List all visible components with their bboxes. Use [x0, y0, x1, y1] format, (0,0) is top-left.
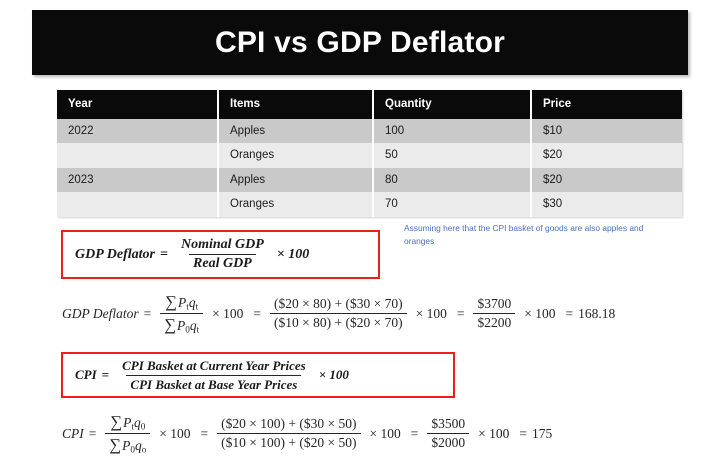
gdp-calc-times-2: × 100 — [416, 306, 447, 322]
gdp-deflator-calculation: GDP Deflator = ∑Ptqt ∑P0qt × 100 = ($20 … — [62, 292, 615, 335]
cell-quantity: 50 — [373, 143, 531, 167]
sigma-icon: ∑ — [164, 315, 176, 334]
gdp-num-q: q — [189, 295, 196, 310]
gdp-calc-real-total: $2200 — [473, 313, 515, 331]
cpi-calc-totals-fraction: $3500 $2000 — [427, 416, 469, 451]
page-title: CPI vs GDP Deflator — [215, 26, 505, 60]
column-header-items: Items — [218, 90, 373, 119]
table-row: 2022 Apples 100 $10 — [57, 119, 682, 143]
gdp-calc-sigma-denominator: ∑P0qt — [160, 313, 203, 335]
cell-year: 2023 — [57, 168, 218, 192]
cell-quantity: 70 — [373, 192, 531, 216]
cpi-num-q-sub: 0 — [141, 422, 146, 432]
data-table: Year Items Quantity Price 2022 Apples 10… — [57, 90, 682, 217]
gdp-calc-label: GDP Deflator — [62, 306, 139, 322]
cell-item: Apples — [218, 119, 373, 143]
cpi-formula-fraction: CPI Basket at Current Year Prices CPI Ba… — [118, 358, 310, 393]
cpi-calc-sigma-numerator: ∑Ptq0 — [106, 412, 149, 433]
cell-year — [57, 143, 218, 167]
table-header-row: Year Items Quantity Price — [57, 90, 682, 119]
cpi-formula-equals: = — [102, 367, 109, 383]
column-header-year: Year — [57, 90, 218, 119]
cpi-calc-sigma-fraction: ∑Ptq0 ∑P0qo — [105, 412, 150, 455]
cell-quantity: 80 — [373, 168, 531, 192]
cpi-formula-times: × 100 — [319, 367, 349, 383]
gdp-den-q: q — [190, 318, 197, 333]
gdp-calc-values-fraction: ($20 × 80) + ($30 × 70) ($10 × 80) + ($2… — [270, 296, 407, 331]
gdp-calc-nominal-total: $3700 — [473, 296, 515, 313]
assumption-note: Assuming here that the CPI basket of goo… — [404, 222, 672, 248]
cpi-calc-values-denominator: ($10 × 100) + ($20 × 50) — [217, 433, 360, 451]
cpi-calc-base-total: $2000 — [427, 433, 469, 451]
cell-price: $10 — [531, 119, 682, 143]
table-row: Oranges 50 $20 — [57, 143, 682, 167]
gdp-calc-equals-4: = — [565, 306, 573, 322]
gdp-calc-times-3: × 100 — [524, 306, 555, 322]
sigma-icon: ∑ — [109, 435, 121, 454]
cell-item: Oranges — [218, 192, 373, 216]
gdp-deflator-formula-box: GDP Deflator = Nominal GDP Real GDP × 10… — [61, 230, 380, 279]
cpi-calc-result: 175 — [532, 426, 552, 442]
gdp-den-p: P — [177, 318, 185, 333]
gdp-calc-sigma-fraction: ∑Ptqt ∑P0qt — [160, 292, 203, 335]
cpi-calc-values-numerator: ($20 × 100) + ($30 × 50) — [217, 416, 360, 433]
gdp-calc-equals-2: = — [253, 306, 261, 322]
gdp-num-p: P — [178, 295, 186, 310]
sigma-icon: ∑ — [110, 412, 122, 431]
gdp-formula-equals: = — [160, 247, 168, 263]
gdp-calc-equals-1: = — [144, 306, 152, 322]
cpi-calc-equals-3: = — [411, 426, 419, 442]
cpi-formula-label: CPI — [75, 367, 97, 383]
gdp-formula-fraction: Nominal GDP Real GDP — [177, 237, 268, 272]
cpi-calc-sigma-denominator: ∑P0qo — [105, 433, 150, 455]
cell-item: Oranges — [218, 143, 373, 167]
gdp-formula-times: × 100 — [277, 247, 309, 263]
cpi-calc-current-total: $3500 — [427, 416, 469, 433]
sigma-icon: ∑ — [165, 292, 177, 311]
cpi-calc-values-fraction: ($20 × 100) + ($30 × 50) ($10 × 100) + (… — [217, 416, 360, 451]
cpi-formula-numerator: CPI Basket at Current Year Prices — [118, 358, 310, 375]
cell-price: $30 — [531, 192, 682, 216]
cpi-formula-denominator: CPI Basket at Base Year Prices — [126, 375, 301, 393]
cpi-formula-box: CPI = CPI Basket at Current Year Prices … — [61, 352, 455, 398]
gdp-formula-label: GDP Deflator — [75, 247, 155, 263]
gdp-formula-numerator: Nominal GDP — [177, 237, 268, 254]
cpi-calc-equals-2: = — [201, 426, 209, 442]
title-banner: CPI vs GDP Deflator — [32, 10, 688, 75]
gdp-den-q-sub: t — [197, 325, 200, 335]
cpi-calc-times-3: × 100 — [478, 426, 509, 442]
gdp-calc-totals-fraction: $3700 $2200 — [473, 296, 515, 331]
cell-price: $20 — [531, 168, 682, 192]
cpi-calc-equals-4: = — [519, 426, 527, 442]
gdp-calc-times-1: × 100 — [212, 306, 243, 322]
cell-price: $20 — [531, 143, 682, 167]
gdp-calc-values-denominator: ($10 × 80) + ($20 × 70) — [270, 313, 407, 331]
cell-quantity: 100 — [373, 119, 531, 143]
cpi-calc-times-1: × 100 — [159, 426, 190, 442]
cell-item: Apples — [218, 168, 373, 192]
gdp-num-q-sub: t — [196, 302, 199, 312]
cell-year: 2022 — [57, 119, 218, 143]
cpi-calc-equals-1: = — [89, 426, 97, 442]
cpi-calc-label: CPI — [62, 426, 84, 442]
cpi-calculation: CPI = ∑Ptq0 ∑P0qo × 100 = ($20 × 100) + … — [62, 412, 552, 455]
column-header-quantity: Quantity — [373, 90, 531, 119]
cpi-num-q: q — [134, 415, 141, 430]
gdp-calc-values-numerator: ($20 × 80) + ($30 × 70) — [270, 296, 407, 313]
cell-year — [57, 192, 218, 216]
column-header-price: Price — [531, 90, 682, 119]
cpi-den-q-sub: o — [142, 445, 147, 455]
gdp-calc-sigma-numerator: ∑Ptqt — [161, 292, 202, 313]
table-row: 2023 Apples 80 $20 — [57, 168, 682, 192]
gdp-formula-denominator: Real GDP — [189, 254, 256, 272]
cpi-calc-times-2: × 100 — [370, 426, 401, 442]
cpi-den-q: q — [135, 438, 142, 453]
gdp-calc-equals-3: = — [457, 306, 465, 322]
gdp-calc-result: 168.18 — [578, 306, 615, 322]
table-row: Oranges 70 $30 — [57, 192, 682, 216]
